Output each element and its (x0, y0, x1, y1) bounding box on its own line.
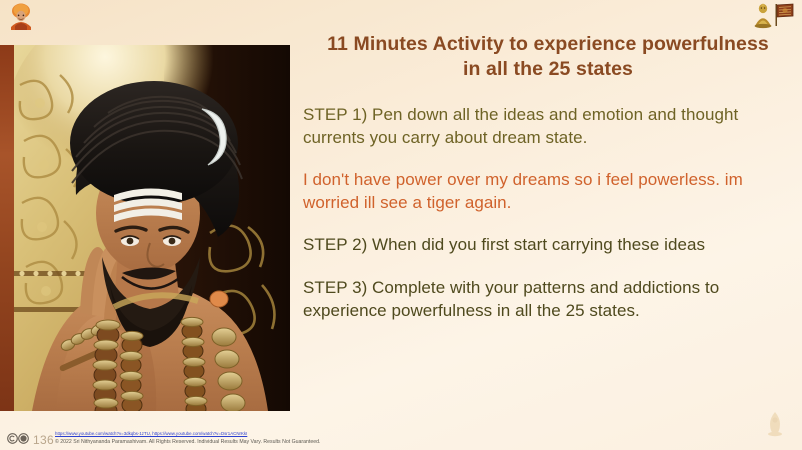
steps-body: STEP 1) Pen down all the ideas and emoti… (303, 104, 793, 322)
title-line-1: 11 Minutes Activity to experience powerf… (327, 33, 769, 55)
footer-text-block: https://www.youtube.com/watch?v=3dkqbs-1… (55, 431, 455, 446)
seated-guru-portrait (14, 45, 290, 411)
paragraph-response: I don't have power over my dreams so i f… (303, 169, 793, 214)
kailasa-watermark-icon (762, 410, 788, 438)
paragraph-step-2: STEP 2) When did you first start carryin… (303, 234, 793, 257)
page-number: 136 (33, 433, 54, 447)
paragraph-step-3: STEP 3) Complete with your patterns and … (303, 277, 793, 322)
title-line-2: in all the 25 states (463, 58, 633, 80)
photo-left-accent-strip (0, 45, 14, 411)
guru-portrait-icon (4, 2, 38, 30)
paragraph-step-1: STEP 1) Pen down all the ideas and emoti… (303, 104, 793, 149)
seated-deity-and-flag-emblem (748, 1, 796, 29)
page-title: 11 Minutes Activity to experience powerf… (303, 32, 793, 82)
creative-commons-icons (7, 431, 31, 442)
slide-content: 11 Minutes Activity to experience powerf… (303, 32, 793, 322)
slide-canvas: 11 Minutes Activity to experience powerf… (0, 0, 802, 450)
footer-links[interactable]: https://www.youtube.com/watch?v=3dkqbs-1… (55, 431, 455, 438)
footer-copyright: © 2022 Sri Nithyananda Paramashivam. All… (55, 438, 455, 446)
slide-footer: 136 https://www.youtube.com/watch?v=3dkq… (0, 422, 802, 450)
